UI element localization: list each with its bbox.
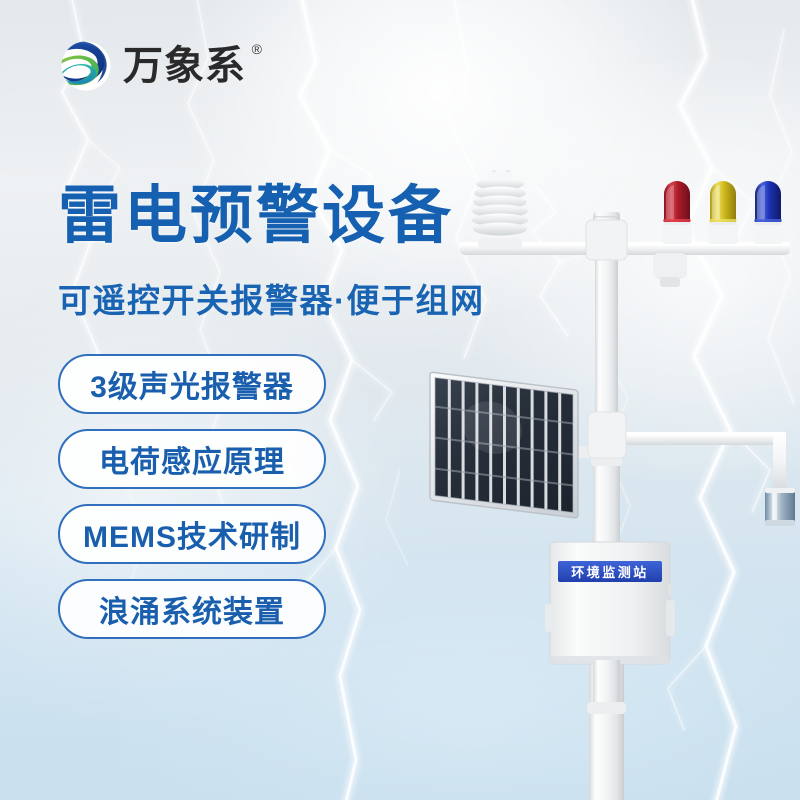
- feature-pill: 3级声光报警器: [58, 354, 326, 414]
- feature-pill: MEMS技术研制: [58, 504, 326, 564]
- alarm-lamp-red: [662, 181, 692, 244]
- feature-pill-label: 3级声光报警器: [90, 362, 294, 406]
- brand-name-text: 万象系: [123, 44, 246, 88]
- page-title: 雷电预警设备: [58, 185, 454, 248]
- radiation-shield-sensor: [472, 170, 528, 248]
- feature-list: 3级声光报警器 电荷感应原理 MEMS技术研制 浪涌系统装置: [58, 354, 326, 639]
- alarm-lamp-blue: [753, 181, 783, 244]
- feature-pill: 浪涌系统装置: [58, 579, 326, 639]
- feature-pill: 电荷感应原理: [58, 429, 326, 489]
- product-poster: 万象系 ® 雷电预警设备 可遥控开关报警器·便于组网 3级声光报警器 电荷感应原…: [0, 0, 800, 800]
- cylinder-sensor: [765, 488, 795, 526]
- brand-name: 万象系 ®: [123, 46, 246, 86]
- feature-pill-label: 浪涌系统装置: [99, 587, 285, 631]
- enclosure-label: 环境监测站: [571, 565, 649, 580]
- feature-pill-label: MEMS技术研制: [83, 512, 301, 556]
- brand-logo: 万象系 ®: [58, 38, 246, 94]
- enclosure-box: 环境监测站: [545, 542, 675, 664]
- alarm-lamp-yellow: [708, 181, 738, 244]
- registered-mark: ®: [252, 42, 263, 56]
- solar-panel: [430, 372, 602, 518]
- feature-pill-label: 电荷感应原理: [99, 437, 285, 481]
- weather-station-illustration: 环境监测站: [400, 160, 800, 800]
- globe-swirl-logo-icon: [58, 38, 114, 94]
